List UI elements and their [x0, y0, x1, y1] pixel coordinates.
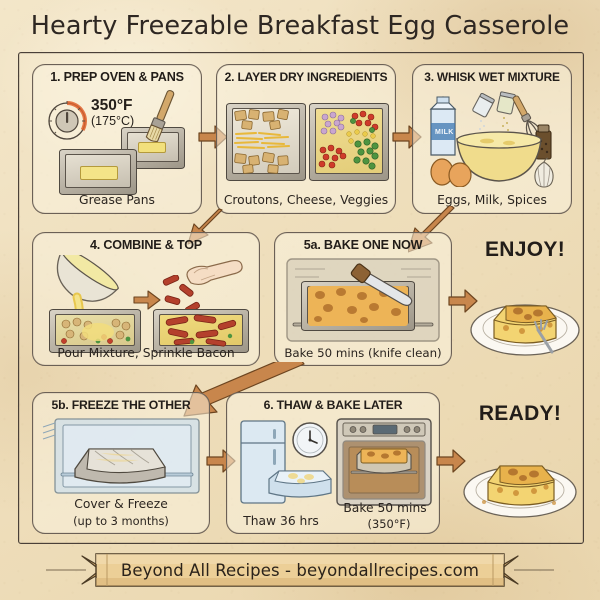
panel-caption: Croutons, Cheese, Veggies	[217, 193, 395, 207]
plate-icon	[458, 432, 582, 526]
panel-prep-oven-and-pans: 1. PREP OVEN & PANS 350°F (175°C)	[32, 64, 202, 214]
panel-freeze-the-other: 5b. FREEZE THE OTHER Cover & Freeze (up …	[32, 392, 210, 534]
infographic-page: Hearty Freezable Breakfast Egg Casserole…	[0, 0, 600, 600]
egg-icon	[429, 155, 475, 187]
baking-pan-icon	[226, 103, 306, 181]
croutons-icon	[232, 108, 300, 176]
panel-combine-and-top: 4. COMBINE & TOP	[32, 232, 260, 366]
foil-covered-pan-icon	[65, 435, 173, 491]
oven-temperature-fahrenheit: 350°F	[91, 97, 133, 115]
panel-title: 5b. FREEZE THE OTHER	[33, 398, 209, 412]
panel-title: 2. LAYER DRY INGREDIENTS	[217, 70, 395, 84]
panel-whisk-wet-mixture: 3. WHISK WET MIXTURE MILK	[412, 64, 572, 214]
banner-text: Beyond All Recipes - beyondallrecipes.co…	[46, 548, 554, 592]
panel-caption-thaw: Thaw 36 hrs	[231, 514, 331, 528]
clock-icon	[289, 419, 331, 461]
panel-layer-dry-ingredients: 2. LAYER DRY INGREDIENTS	[216, 64, 396, 214]
oven-temperature-celsius: (175°C)	[91, 114, 134, 128]
bacon-topping-icon	[162, 314, 240, 348]
garlic-icon	[529, 157, 559, 189]
outcome-label: ENJOY!	[466, 238, 584, 262]
oven-dial-icon	[41, 93, 93, 145]
panel-bake-one-now: 5a. BAKE ONE NOW	[274, 232, 452, 366]
outcome-label: READY!	[458, 402, 582, 426]
baking-pan-icon	[59, 149, 137, 195]
shredded-cheese-icon	[235, 133, 289, 148]
panel-caption: Grease Pans	[33, 193, 201, 207]
casserole-slice-icon	[488, 466, 554, 505]
outcome-ready: READY!	[458, 396, 582, 528]
baking-pan-icon	[309, 103, 389, 181]
diced-veggies-icon	[315, 108, 383, 176]
panel-thaw-and-bake-later: 6. THAW & BAKE LATER	[226, 392, 440, 534]
casserole-filling-icon	[58, 316, 132, 346]
panel-title: 5a. BAKE ONE NOW	[275, 238, 451, 252]
outcome-enjoy: ENJOY!	[466, 236, 584, 364]
panel-title: 4. COMBINE & TOP	[33, 238, 259, 252]
panel-title: 6. THAW & BAKE LATER	[227, 398, 439, 412]
panel-caption: Cover & Freeze	[33, 497, 209, 511]
knife-icon	[345, 255, 431, 329]
pastry-brush-icon	[137, 87, 185, 149]
panel-title: 1. PREP OVEN & PANS	[33, 70, 201, 84]
panel-title: 3. WHISK WET MIXTURE	[413, 70, 571, 84]
panel-caption: Pour Mixture, Sprinkle Bacon	[33, 346, 259, 360]
panel-caption-bake: Bake 50 mins	[333, 501, 437, 515]
milk-carton-label: MILK	[435, 129, 454, 136]
panel-caption-bake-sub: (350°F)	[337, 517, 441, 531]
panel-caption-sub: (up to 3 months)	[33, 514, 209, 528]
panel-caption: Bake 50 mins (knife clean)	[275, 346, 451, 360]
arrow-right-icon	[133, 289, 161, 311]
plate-icon	[466, 268, 584, 362]
page-title: Hearty Freezable Breakfast Egg Casserole	[0, 11, 600, 41]
panel-caption: Eggs, Milk, Spices	[413, 193, 571, 207]
casserole-pan-icon	[263, 467, 335, 507]
footer-banner: Beyond All Recipes - beyondallrecipes.co…	[46, 548, 554, 592]
oven-icon	[335, 417, 433, 507]
